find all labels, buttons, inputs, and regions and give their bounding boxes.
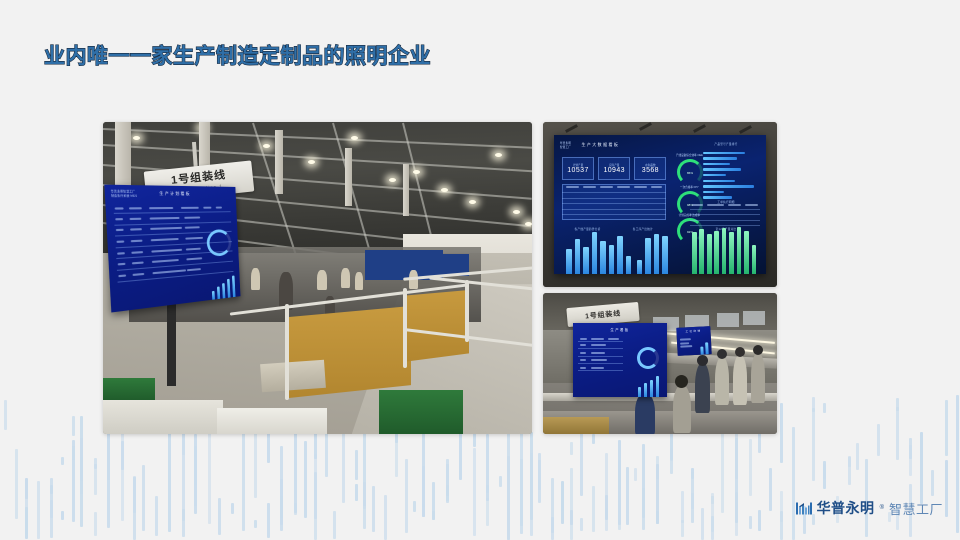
decorative-bar: [634, 468, 637, 481]
decorative-bar: [422, 429, 425, 517]
decorative-bar: [486, 498, 489, 526]
kpi-card-value: 10537: [567, 167, 588, 174]
photo-assembly-line-workers: 1号组装线 生产看板: [543, 293, 777, 434]
plan-rate-gauge-value: 92%: [680, 230, 700, 234]
decorative-bar: [94, 458, 97, 469]
footer-logo: 华普永明 ® 智慧工厂: [795, 498, 943, 518]
kpi-dashboard-screen: 华普永明 智慧工厂 生产大数据看板 计划产量 10537 实际产量 10943 …: [554, 135, 767, 274]
worker-head: [735, 347, 745, 357]
decorative-bar: [570, 510, 573, 525]
line-completion-donut: [637, 347, 659, 369]
decorative-bar: [570, 468, 573, 540]
decorative-bar: [72, 446, 75, 460]
decorative-bar: [473, 448, 476, 536]
decorative-bar: [333, 511, 336, 539]
worker-figure: [341, 268, 350, 288]
line-dashboard-title: 生产看板: [573, 327, 667, 332]
decorative-bar: [94, 512, 97, 536]
decorative-bar: [812, 408, 815, 481]
mes-dashboard-screen: 华普永明智慧工厂 制造执行系统 MES 生产计划看板: [104, 185, 240, 313]
worker-figure: [317, 270, 327, 290]
line-monitor: 生产看板: [573, 323, 667, 397]
dashboard-title: 生产计划看板: [105, 190, 236, 197]
decorative-bar: [72, 416, 75, 436]
photo-factory-assembly-line-overview: 1号组装线 Assembly line 1 华普永明智慧工厂 制造执行系统 ME…: [103, 122, 532, 434]
decorative-bar: [413, 501, 416, 512]
worker-figure-seated: [673, 385, 691, 433]
decorative-bar: [80, 457, 83, 494]
worker-figure: [715, 357, 729, 405]
factory-building-mark-icon: [795, 501, 812, 516]
kpi-card-value: 3568: [642, 167, 659, 174]
decorative-bar: [909, 445, 912, 476]
oee-gauge-value: 86%: [680, 171, 700, 175]
worker-figure: [733, 355, 747, 405]
decorative-bar: [372, 486, 375, 532]
line-guard-panel: [403, 290, 469, 362]
tablet-screen: 工位终端: [676, 326, 711, 356]
decorative-bar: [267, 503, 270, 538]
green-crate: [379, 390, 463, 434]
decorative-bar: [780, 491, 783, 522]
decorative-bar: [856, 443, 859, 470]
decorative-bar: [446, 464, 449, 496]
photo-production-kpi-big-screen: 华普永明 智慧工厂 生产大数据看板 计划产量 10537 实际产量 10943 …: [543, 122, 777, 287]
decorative-bar: [691, 472, 694, 523]
decorative-bar: [25, 507, 28, 539]
decorative-bar: [304, 441, 307, 518]
worker-figure: [251, 268, 260, 290]
decorative-bar: [280, 446, 283, 531]
decorative-bar: [254, 520, 257, 528]
worker-figure-seated: [635, 393, 655, 434]
decorative-bar: [592, 434, 595, 444]
decorative-bar: [182, 509, 185, 537]
green-crate: [103, 378, 155, 402]
kpi-screen-bezel: 华普永明 智慧工厂 生产大数据看板 计划产量 10537 实际产量 10943 …: [554, 135, 767, 274]
kpi-card-value: 10943: [603, 167, 624, 174]
footer-registered-mark: ®: [880, 505, 884, 511]
decorative-bar: [499, 476, 502, 487]
decorative-bar: [758, 510, 761, 531]
kpi-card: 计划产量 10537: [562, 157, 594, 179]
decorative-bar: [920, 432, 923, 492]
decorative-bar: [769, 468, 772, 511]
worker-head: [717, 349, 727, 359]
decorative-bar: [208, 430, 211, 524]
decorative-bar: [280, 496, 283, 518]
decorative-bar: [405, 459, 408, 533]
decorative-bar: [61, 511, 64, 520]
workstation-tablet[interactable]: 工位终端: [676, 326, 711, 356]
decorative-bar: [956, 395, 959, 533]
decorative-bar: [561, 482, 564, 511]
decorative-bar: [792, 427, 795, 540]
decorative-bar: [896, 407, 899, 460]
line-dashboard-screen: 生产看板: [573, 323, 667, 397]
decorative-bar: [945, 400, 948, 456]
worker-figure: [695, 363, 710, 413]
decorative-bar: [432, 482, 435, 520]
footer-brand: 华普永明: [817, 498, 875, 518]
decorative-bar: [626, 467, 629, 525]
decorative-bar: [749, 439, 752, 496]
decorative-bar: [780, 403, 783, 463]
decorative-bar: [896, 398, 899, 411]
wall-window: [717, 313, 739, 327]
decorative-bar: [155, 496, 158, 536]
decorative-bar: [231, 503, 234, 514]
decorative-bar: [945, 460, 948, 517]
decorative-bar: [486, 434, 489, 501]
decorative-bar: [711, 496, 714, 504]
footer-product-name: 智慧工厂: [889, 499, 943, 518]
decorative-bar: [507, 456, 510, 540]
decorative-bar: [681, 491, 684, 523]
tablet-screen-label: 工位终端: [676, 328, 710, 334]
worker-figure: [355, 272, 363, 290]
decorative-bar: [4, 400, 7, 430]
decorative-bar: [530, 453, 533, 536]
decorative-bar: [355, 450, 358, 480]
decorative-bar: [355, 484, 358, 501]
decorative-bar: [15, 449, 18, 519]
decorative-bar: [133, 477, 136, 540]
decorative-bar: [384, 495, 387, 540]
decorative-bar: [551, 517, 554, 540]
decorative-bar: [194, 462, 197, 506]
decorative-bar: [848, 457, 851, 467]
decorative-bar: [823, 403, 826, 413]
kpi-dashboard-title: 生产大数据看板: [554, 142, 707, 148]
decorative-bar: [642, 444, 645, 518]
oee-gauge: 86%: [677, 159, 703, 185]
decorative-bar: [538, 453, 541, 503]
rail-post: [465, 280, 469, 342]
mes-monitor: 华普永明智慧工厂 制造执行系统 MES 生产计划看板: [104, 185, 240, 313]
overhead-line-sign-label: 1号组装线: [585, 308, 622, 321]
white-goods-stack: [103, 400, 223, 434]
ocher-panel: [543, 417, 609, 434]
decorative-bar: [721, 429, 724, 513]
decorative-bar: [823, 464, 826, 479]
decorative-bar: [218, 498, 221, 535]
cardboard-box: [260, 360, 326, 392]
worker-head: [675, 375, 688, 388]
decorative-bar: [931, 470, 934, 496]
left-bar-chart-caption: 各产线产量趋势分析: [562, 227, 613, 231]
decorative-bar: [670, 438, 673, 461]
decorative-bar: [592, 486, 595, 532]
wall-window: [743, 311, 765, 325]
completion-donut-gauge: [206, 229, 232, 257]
worker-head: [753, 345, 763, 355]
kpi-card: 实际产量 10943: [598, 157, 630, 179]
decorative-bar: [61, 457, 64, 465]
decorative-bar: [325, 429, 328, 477]
decorative-bar: [570, 442, 573, 455]
decorative-bar: [25, 478, 28, 499]
page-title: 业内唯一一家生产制造定制品的照明企业: [44, 40, 431, 70]
decorative-bar: [37, 481, 40, 539]
decorative-bar: [656, 511, 659, 524]
decorative-bar: [681, 520, 684, 537]
decorative-bar: [605, 453, 608, 531]
monitor-stand: [167, 300, 176, 386]
rail-post: [285, 304, 289, 400]
worker-head: [697, 355, 708, 366]
decorative-bar: [50, 485, 53, 494]
white-goods-stack: [217, 408, 327, 434]
decorative-bar: [656, 456, 659, 479]
decorative-bar: [618, 460, 621, 525]
decorative-bar: [580, 518, 583, 531]
decorative-bar: [749, 516, 752, 529]
mid-bar-chart-caption: 各工序产出统计: [617, 227, 668, 231]
decorative-bar: [877, 424, 880, 456]
worker-figure: [751, 353, 765, 403]
decorative-bar: [711, 516, 714, 540]
kpi-card: 在制品数 3568: [634, 157, 666, 179]
hbar-chart-caption: 产品型号产量排行: [690, 142, 762, 146]
decorative-bar: [314, 454, 317, 519]
decorative-bar: [363, 482, 366, 509]
decorative-bar: [142, 465, 145, 531]
decorative-bar: [701, 508, 704, 540]
decorative-bar: [735, 438, 738, 523]
